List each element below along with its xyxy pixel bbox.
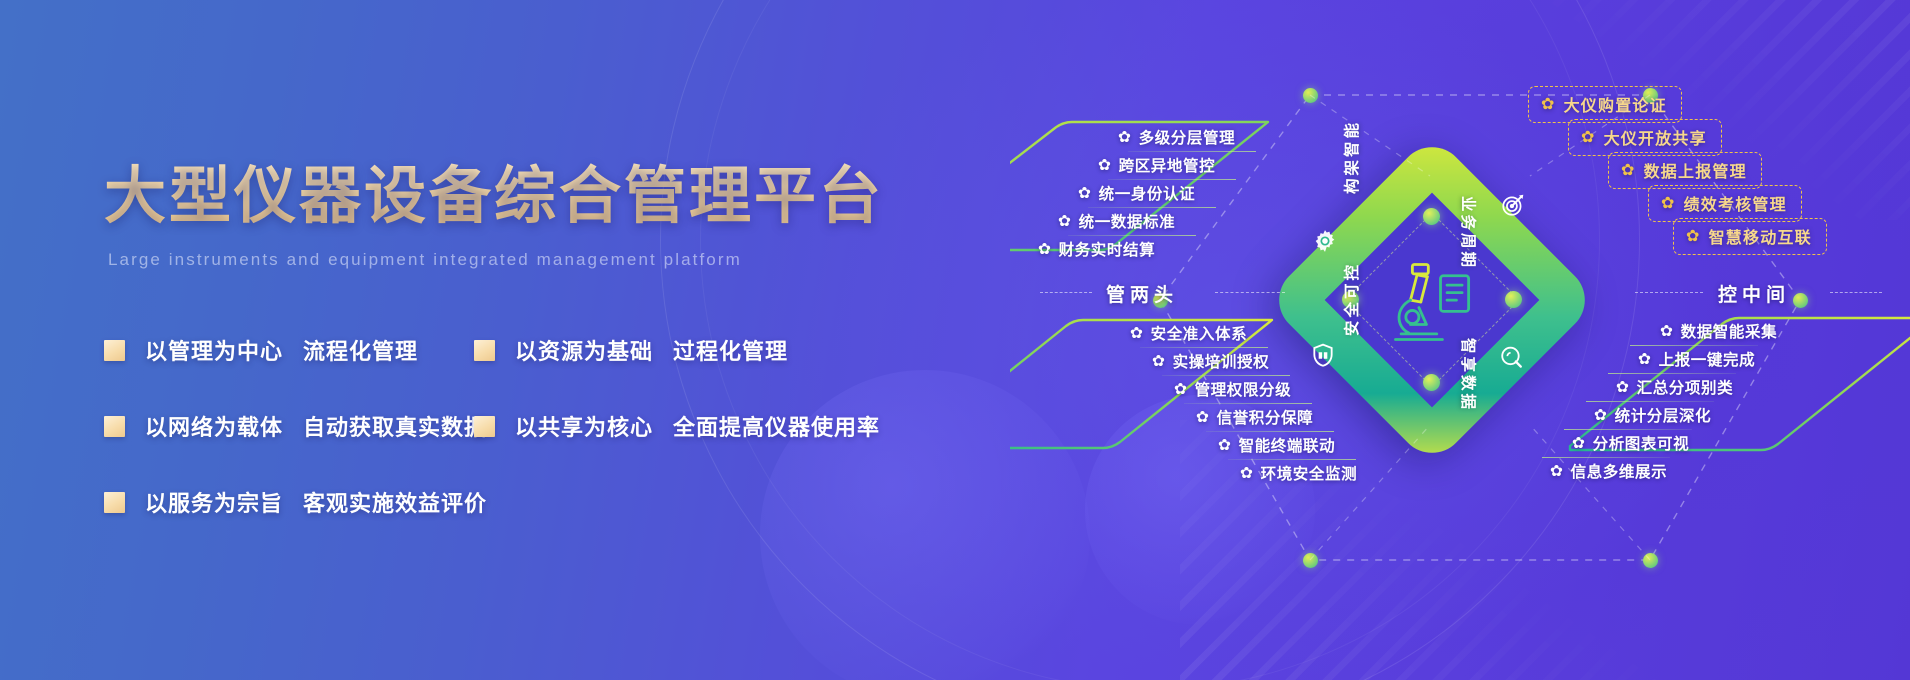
list-item: ✿ 上报一键完成 xyxy=(1638,348,1755,370)
flower-bullet-icon: ✿ xyxy=(1621,160,1636,180)
feature-lead: 以共享为核心 xyxy=(515,410,657,442)
bullet-square-icon xyxy=(104,492,125,513)
list-item-label: 上报一键完成 xyxy=(1659,348,1756,370)
list-item-label: 安全准入体系 xyxy=(1151,322,1248,344)
flower-bullet-icon: ✿ xyxy=(1058,212,1072,231)
tag-performance-review[interactable]: ✿ 绩效考核管理 xyxy=(1648,185,1802,222)
flower-bullet-icon: ✿ xyxy=(1196,408,1210,427)
tag-label: 大仪购置论证 xyxy=(1564,92,1667,116)
item-underline xyxy=(1128,151,1256,152)
tag-data-report[interactable]: ✿ 数据上报管理 xyxy=(1608,152,1762,189)
hex-node xyxy=(1303,553,1318,568)
item-underline xyxy=(1140,347,1268,348)
list-item-label: 汇总分项别类 xyxy=(1637,376,1734,398)
feature-lead: 以网络为载体 xyxy=(145,410,287,442)
quadrant-label-business: 业务周期 xyxy=(1458,196,1480,270)
item-underline xyxy=(1088,207,1216,208)
flower-bullet-icon: ✿ xyxy=(1638,350,1652,369)
hex-node xyxy=(1303,88,1318,103)
feature-row: 以管理为中心 流程化管理 以资源为基础 过程化管理 xyxy=(104,334,974,366)
item-underline xyxy=(1184,403,1312,404)
list-item: ✿ 多级分层管理 xyxy=(1118,126,1235,148)
architecture-diagram: 构架智能 业务周期 安全可控 智享数据 xyxy=(1010,0,1910,680)
flower-bullet-icon: ✿ xyxy=(1686,226,1701,246)
page-title: 大型仪器设备综合管理平台 xyxy=(104,145,884,235)
item-underline xyxy=(1206,431,1334,432)
tag-label: 绩效考核管理 xyxy=(1684,191,1787,215)
flower-bullet-icon: ✿ xyxy=(1581,127,1596,147)
bullet-square-icon xyxy=(104,340,125,361)
feature-list: 以管理为中心 流程化管理 以资源为基础 过程化管理 以网络为载体 自动获取真实数… xyxy=(104,334,974,562)
list-item-label: 统计分层深化 xyxy=(1615,404,1712,426)
tag-purchase-argument[interactable]: ✿ 大仪购置论证 xyxy=(1528,86,1682,123)
list-item: ✿ 汇总分项别类 xyxy=(1616,376,1733,398)
feature-item: 以服务为宗旨 客观实施效益评价 xyxy=(104,486,474,518)
banner-root: 大型仪器设备综合管理平台 Large instruments and equip… xyxy=(0,0,1910,680)
list-item: ✿ 环境安全监测 xyxy=(1240,462,1357,484)
list-item-label: 统一数据标准 xyxy=(1079,210,1176,232)
core-node-bottom xyxy=(1423,374,1440,391)
quadrant-label-constructive: 构架智能 xyxy=(1340,120,1362,194)
list-item-label: 信息多维展示 xyxy=(1571,460,1668,482)
list-item: ✿ 信息多维展示 xyxy=(1550,460,1667,482)
microscope-icon xyxy=(1388,258,1478,346)
feature-detail: 全面提高仪器使用率 xyxy=(673,410,880,442)
feature-item: 以共享为核心 全面提高仪器使用率 xyxy=(474,410,944,442)
list-item-label: 统一身份认证 xyxy=(1099,182,1196,204)
item-underline xyxy=(1228,459,1356,460)
feature-item: 以资源为基础 过程化管理 xyxy=(474,334,944,366)
feature-row: 以网络为载体 自动获取真实数据 以共享为核心 全面提高仪器使用率 xyxy=(104,410,974,442)
panel-bottom-right-items: ✿ 数据智能采集 ✿ 上报一键完成 ✿ 汇总分项别类 ✿ 统计分层深化 xyxy=(1530,306,1900,486)
feature-row: 以服务为宗旨 客观实施效益评价 xyxy=(104,486,974,518)
panel-top-left-items: ✿ 多级分层管理 ✿ 跨区异地管控 ✿ 统一身份认证 ✿ 统一数据标准 xyxy=(1010,110,1290,260)
list-item-label: 财务实时结算 xyxy=(1059,238,1156,260)
flower-bullet-icon: ✿ xyxy=(1616,378,1630,397)
list-item-label: 多级分层管理 xyxy=(1139,126,1236,148)
feature-lead: 以资源为基础 xyxy=(515,334,657,366)
item-underline xyxy=(1630,345,1758,346)
target-icon xyxy=(1500,192,1526,218)
flower-bullet-icon: ✿ xyxy=(1098,156,1112,175)
item-underline xyxy=(1162,375,1290,376)
list-item-label: 跨区异地管控 xyxy=(1119,154,1216,176)
caption-manage-both-ends: 管两头 xyxy=(1106,280,1178,307)
feature-detail: 过程化管理 xyxy=(673,334,788,366)
core-node-top xyxy=(1423,208,1440,225)
flower-bullet-icon: ✿ xyxy=(1572,434,1586,453)
list-item: ✿ 统一身份认证 xyxy=(1078,182,1195,204)
panel-top-left: ✿ 多级分层管理 ✿ 跨区异地管控 ✿ 统一身份认证 ✿ 统一数据标准 xyxy=(1010,110,1290,260)
panel-bottom-right: ✿ 数据智能采集 ✿ 上报一键完成 ✿ 汇总分项别类 ✿ 统计分层深化 xyxy=(1530,306,1900,486)
shield-icon xyxy=(1310,342,1336,368)
caption-control-center: 控中间 xyxy=(1718,280,1790,307)
flower-bullet-icon: ✿ xyxy=(1118,128,1132,147)
panel-bottom-left-items: ✿ 安全准入体系 ✿ 实操培训授权 ✿ 管理权限分级 ✿ 信誉积分保障 xyxy=(1010,308,1290,478)
list-item-label: 实操培训授权 xyxy=(1173,350,1270,372)
flower-bullet-icon: ✿ xyxy=(1660,322,1674,341)
feature-lead: 以服务为宗旨 xyxy=(145,486,287,518)
caption-dash-right xyxy=(1635,292,1703,293)
list-item: ✿ 统计分层深化 xyxy=(1594,404,1711,426)
tag-label: 智慧移动互联 xyxy=(1709,224,1812,248)
flower-bullet-icon: ✿ xyxy=(1174,380,1188,399)
flower-bullet-icon: ✿ xyxy=(1218,436,1232,455)
list-item-label: 智能终端联动 xyxy=(1239,434,1336,456)
feature-lead: 以管理为中心 xyxy=(145,334,287,366)
list-item: ✿ 实操培训授权 xyxy=(1152,350,1269,372)
quadrant-label-data: 智享数据 xyxy=(1458,338,1480,412)
list-item: ✿ 财务实时结算 xyxy=(1038,238,1155,260)
list-item-label: 数据智能采集 xyxy=(1681,320,1778,342)
tag-open-sharing[interactable]: ✿ 大仪开放共享 xyxy=(1568,119,1722,156)
core-node-right xyxy=(1505,291,1522,308)
flower-bullet-icon: ✿ xyxy=(1038,240,1052,259)
list-item: ✿ 管理权限分级 xyxy=(1174,378,1291,400)
list-item-label: 分析图表可视 xyxy=(1593,432,1690,454)
item-underline xyxy=(1608,373,1736,374)
feature-detail: 自动获取真实数据 xyxy=(303,410,487,442)
list-item-label: 信誉积分保障 xyxy=(1217,406,1314,428)
list-item: ✿ 数据智能采集 xyxy=(1660,320,1777,342)
list-item: ✿ 统一数据标准 xyxy=(1058,210,1175,232)
bulb-icon xyxy=(1498,344,1524,370)
bullet-square-icon xyxy=(474,340,495,361)
feature-detail: 客观实施效益评价 xyxy=(303,486,487,518)
flower-bullet-icon: ✿ xyxy=(1078,184,1092,203)
flower-bullet-icon: ✿ xyxy=(1661,193,1676,213)
list-item: ✿ 安全准入体系 xyxy=(1130,322,1247,344)
bullet-square-icon xyxy=(104,416,125,437)
item-underline xyxy=(1068,235,1196,236)
tag-label: 大仪开放共享 xyxy=(1604,125,1707,149)
item-underline xyxy=(1542,457,1670,458)
list-item-label: 管理权限分级 xyxy=(1195,378,1292,400)
feature-item: 以管理为中心 流程化管理 xyxy=(104,334,474,366)
page-subtitle: Large instruments and equipment integrat… xyxy=(108,250,742,270)
list-item: ✿ 智能终端联动 xyxy=(1218,434,1335,456)
flower-bullet-icon: ✿ xyxy=(1240,464,1254,483)
list-item-label: 环境安全监测 xyxy=(1261,462,1358,484)
caption-dash-left xyxy=(1040,292,1092,293)
bullet-square-icon xyxy=(474,416,495,437)
feature-item: 以网络为载体 自动获取真实数据 xyxy=(104,410,474,442)
item-underline xyxy=(1564,429,1692,430)
caption-dash-right-2 xyxy=(1830,292,1882,293)
item-underline xyxy=(1586,401,1714,402)
tag-label: 数据上报管理 xyxy=(1644,158,1747,182)
tag-smart-mobile[interactable]: ✿ 智慧移动互联 xyxy=(1673,218,1827,255)
item-underline xyxy=(1108,179,1236,180)
hex-node xyxy=(1643,553,1658,568)
feature-detail: 流程化管理 xyxy=(303,334,418,366)
flower-bullet-icon: ✿ xyxy=(1594,406,1608,425)
flower-bullet-icon: ✿ xyxy=(1152,352,1166,371)
list-item: ✿ 跨区异地管控 xyxy=(1098,154,1215,176)
flower-bullet-icon: ✿ xyxy=(1130,324,1144,343)
left-content-pane: 大型仪器设备综合管理平台 Large instruments and equip… xyxy=(0,0,1010,680)
list-item: ✿ 信誉积分保障 xyxy=(1196,406,1313,428)
panel-bottom-left: ✿ 安全准入体系 ✿ 实操培训授权 ✿ 管理权限分级 ✿ 信誉积分保障 xyxy=(1010,308,1290,478)
quadrant-label-security: 安全可控 xyxy=(1340,262,1362,336)
flower-bullet-icon: ✿ xyxy=(1550,462,1564,481)
caption-dash-left-2 xyxy=(1215,292,1285,293)
list-item: ✿ 分析图表可视 xyxy=(1572,432,1689,454)
flower-bullet-icon: ✿ xyxy=(1541,94,1556,114)
gear-icon xyxy=(1312,228,1338,254)
